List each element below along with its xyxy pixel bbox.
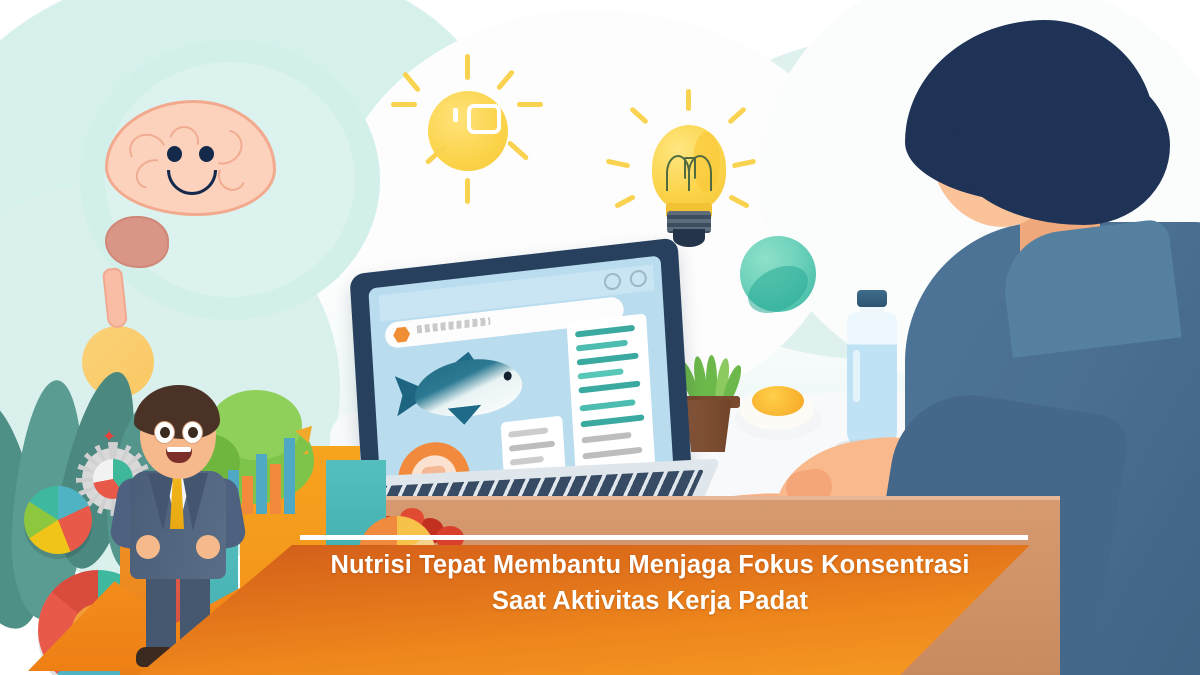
- man-hair-back: [955, 60, 1170, 225]
- bulb-ray: [728, 194, 750, 209]
- bulb-ray: [727, 106, 747, 124]
- content-card-right[interactable]: [566, 313, 656, 486]
- content-text-line: [581, 432, 631, 444]
- businessman-teeth: [167, 447, 191, 452]
- title-banner: Nutrisi Tepat Membantu Menjaga Fokus Kon…: [0, 535, 1200, 675]
- bulb-ray: [629, 106, 649, 124]
- egg-yolk: [752, 386, 804, 416]
- sun-ray: [391, 102, 417, 107]
- sun-inner-mark: [467, 104, 501, 134]
- content-text-line: [578, 381, 640, 394]
- illustration-canvas: ✦ ✦: [0, 0, 1200, 675]
- smiling-brain-icon: [105, 100, 290, 265]
- water-bottle: [843, 290, 901, 450]
- arrow-head-icon: [295, 420, 318, 443]
- businessman-pupil-left: [160, 427, 170, 438]
- content-text-line: [576, 340, 628, 352]
- bulb-filament: [684, 157, 696, 179]
- sun-ray: [507, 140, 530, 161]
- businessman-pupil-right: [188, 427, 198, 438]
- content-text-line: [577, 353, 639, 366]
- sun-ray: [402, 71, 421, 93]
- content-text-line: [580, 399, 636, 411]
- banner-title: Nutrisi Tepat Membantu Menjaga Fokus Kon…: [300, 547, 1000, 619]
- brain-eye-left: [167, 146, 182, 162]
- content-text-line: [582, 447, 642, 460]
- brain-eye-right: [199, 146, 214, 162]
- content-text-line: [508, 427, 548, 438]
- bulb-ray: [686, 89, 691, 111]
- content-text-line: [509, 441, 555, 452]
- sun-ray: [517, 102, 543, 107]
- bulb-ray: [614, 194, 636, 209]
- banner-title-line-2: Saat Aktivitas Kerja Padat: [300, 583, 1000, 619]
- banner-title-line-1: Nutrisi Tepat Membantu Menjaga Fokus Kon…: [300, 547, 1000, 583]
- sun-icon: [393, 56, 543, 206]
- content-text-line: [575, 325, 635, 338]
- bottle-highlight: [853, 350, 860, 402]
- bulb-tip: [673, 229, 705, 247]
- sun-inner-mark: [453, 108, 458, 122]
- content-text-line: [578, 368, 624, 379]
- bulb-ray: [732, 159, 757, 169]
- bulb-ray: [606, 159, 631, 169]
- sun-ray: [465, 54, 470, 80]
- lightbulb-icon: [600, 85, 760, 260]
- sun-ray: [496, 69, 515, 91]
- banner-top-rule: [300, 535, 1028, 540]
- brain-cerebellum: [105, 216, 169, 268]
- bottle-cap: [857, 290, 887, 307]
- content-text-line: [581, 414, 645, 427]
- content-text-line: [510, 456, 544, 466]
- sun-ray: [465, 178, 470, 204]
- businessman-hair: [134, 385, 220, 439]
